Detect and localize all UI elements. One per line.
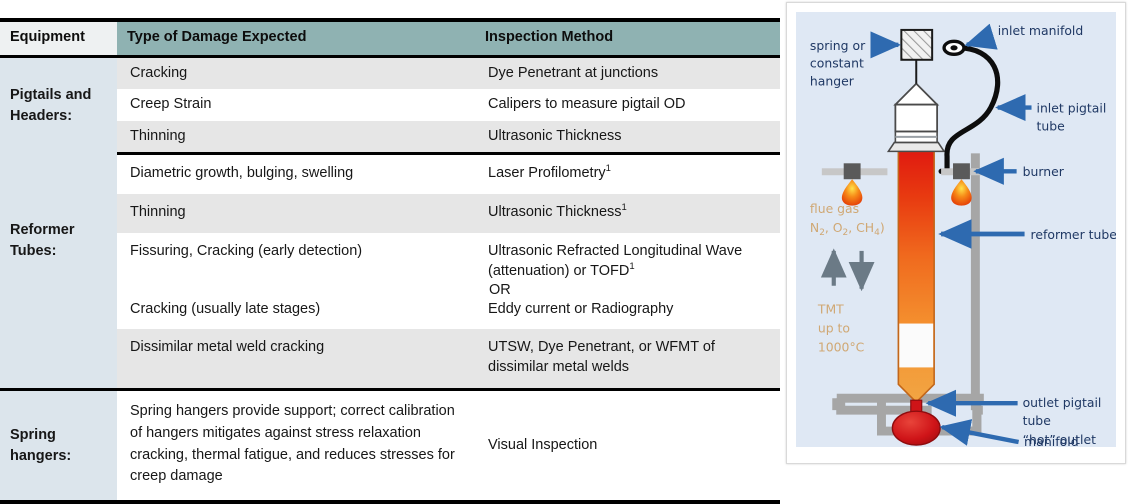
damage-cell: Thinning [117,121,475,154]
table-row: Thinning Ultrasonic Thickness [0,121,780,154]
method-cell: Visual Inspection [475,390,780,503]
spring-hanger-box [901,30,932,60]
tube-top-flange [888,142,944,151]
table-header-row: Equipment Type of Damage Expected Inspec… [0,20,780,56]
damage-cell: Thinning [117,194,475,233]
footnote-marker: 1 [606,163,611,174]
damage-cell: Diametric growth, bulging, swelling [117,153,475,194]
hot-outlet-manifold-bulb [892,411,940,445]
damage-cell [117,281,475,300]
damage-cell: Cracking (usually late stages) [117,300,475,329]
reformer-diagram-frame: spring or constant hanger inlet manifold… [786,2,1126,464]
damage-cell: Cracking [117,56,475,89]
equipment-cell-reformer-tubes: Reformer Tubes: [0,153,117,329]
label-inlet-manifold: inlet manifold [998,23,1084,38]
label-flue-gas-line2: N2, O2, CH4) [810,220,885,238]
inspection-table: Equipment Type of Damage Expected Inspec… [0,18,780,504]
label-inlet-pigtail-line1: inlet pigtail [1036,101,1106,116]
column-header-equipment: Equipment [0,20,117,56]
label-tmt-line3: 1000°C [818,339,864,354]
table-header: Equipment Type of Damage Expected Inspec… [0,20,780,56]
table-body: Pigtails and Headers: Cracking Dye Penet… [0,56,780,502]
burner-right [953,163,970,179]
label-flue-gas-line1: flue gas [810,201,859,216]
column-header-damage: Type of Damage Expected [117,20,475,56]
hanger-cone [895,84,937,105]
label-tmt-line2: up to [818,321,850,336]
label-tmt-line1: TMT [817,302,844,317]
table-row: OR [0,281,780,300]
method-cell: Dye Penetrant at junctions [475,56,780,89]
method-cell: UTSW, Dye Penetrant, or WFMT of dissimil… [475,329,780,389]
method-cell: Ultrasonic Refracted Longitudinal Wave (… [475,233,780,281]
table-row: Thinning Ultrasonic Thickness1 [0,194,780,233]
flange-body [895,105,937,132]
damage-cell: Fissuring, Cracking (early detection) [117,233,475,281]
table-row: Spring hangers: Spring hangers provide s… [0,390,780,503]
damage-cell: Dissimilar metal weld cracking [117,329,475,389]
method-cell: OR [475,281,780,300]
method-cell: Calipers to measure pigtail OD [475,89,780,120]
label-hot-outlet-line2: manifold [1024,434,1079,449]
equipment-cell-spring-hangers: Spring hangers: [0,390,117,503]
flame-right [951,179,971,205]
table-row: Creep Strain Calipers to measure pigtail… [0,89,780,120]
label-burner: burner [1023,164,1065,179]
burner-left [844,163,861,179]
arrow-inlet-manifold [967,37,993,45]
reformer-diagram-panel: spring or constant hanger inlet manifold… [796,12,1116,447]
page-root: Equipment Type of Damage Expected Inspec… [0,0,1130,469]
table-row: Dissimilar metal weld cracking UTSW, Dye… [0,329,780,389]
damage-cell: Creep Strain [117,89,475,120]
inlet-pigtail-tube [947,48,998,171]
column-header-method: Inspection Method [475,20,780,56]
method-cell: Laser Profilometry1 [475,153,780,194]
method-cell: Ultrasonic Thickness1 [475,194,780,233]
table-row: Reformer Tubes: Diametric growth, bulgin… [0,153,780,194]
damage-cell: Spring hangers provide support; correct … [117,390,475,503]
footnote-marker: 1 [629,261,634,272]
method-cell: Eddy current or Radiography [475,300,780,329]
tube-insulation-overlay [899,324,933,368]
equipment-cell-spacer [0,329,117,389]
label-outlet-pigtail-line2: tube [1023,413,1051,428]
label-spring-hanger-line1: spring or [810,38,866,53]
inlet-manifold-port [950,45,957,50]
table-row: Pigtails and Headers: Cracking Dye Penet… [0,56,780,89]
furnace-wall [971,153,980,410]
table-row: Fissuring, Cracking (early detection) Ul… [0,233,780,281]
method-cell: Ultrasonic Thickness [475,121,780,154]
equipment-cell-pigtails: Pigtails and Headers: [0,56,117,153]
label-inlet-pigtail-line2: tube [1036,118,1064,133]
reformer-diagram-svg: spring or constant hanger inlet manifold… [796,12,1116,447]
label-outlet-pigtail-line1: outlet pigtail [1023,395,1102,410]
table-row: Cracking (usually late stages) Eddy curr… [0,300,780,329]
label-reformer-tube: reformer tube [1031,227,1116,242]
inspection-table-container: Equipment Type of Damage Expected Inspec… [0,18,780,504]
label-spring-hanger-line3: hanger [810,74,855,89]
label-spring-hanger-line2: constant [810,56,864,71]
footnote-marker: 1 [622,202,627,213]
